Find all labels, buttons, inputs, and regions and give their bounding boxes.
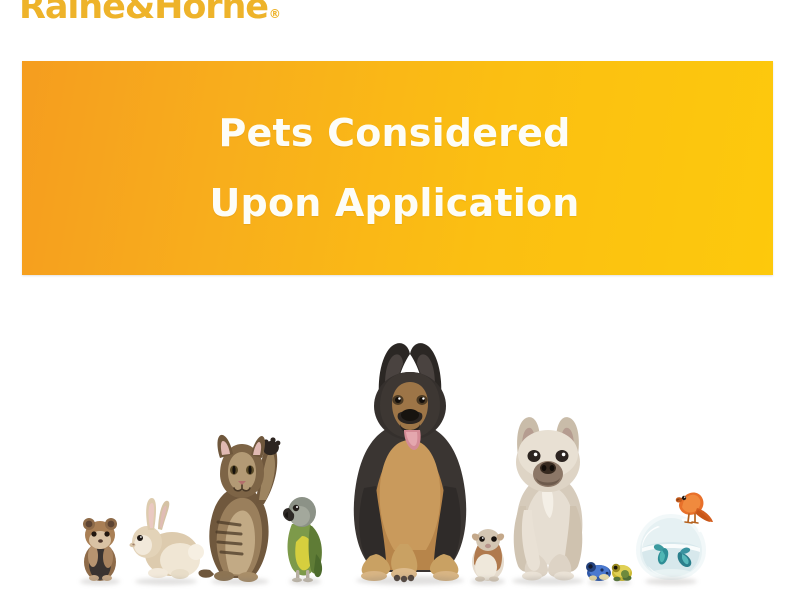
hero-headline-line-1: Pets Considered (218, 114, 570, 152)
hero-banner: Pets Considered Upon Application (22, 61, 773, 275)
parrot-figure (276, 490, 334, 582)
brand-header: Raine&Horne® (0, 0, 800, 44)
registered-trademark-icon: ® (269, 7, 281, 21)
yellow-frog-figure (610, 560, 634, 582)
hero-headline-line-2: Upon Application (209, 184, 579, 222)
cat-figure (190, 430, 290, 582)
hamster-figure (74, 510, 126, 582)
canary-figure (668, 486, 714, 526)
french-bulldog-figure (498, 410, 598, 582)
pets-stage (0, 282, 800, 582)
page-root: Raine&Horne® Pets Considered Upon Applic… (0, 0, 800, 600)
raine-and-horne-logo[interactable]: Raine&Horne® (19, 0, 280, 34)
logo-wordmark: Raine&Horne (19, 0, 268, 27)
pets-photo (0, 280, 800, 600)
blue-frog-figure (584, 558, 612, 582)
